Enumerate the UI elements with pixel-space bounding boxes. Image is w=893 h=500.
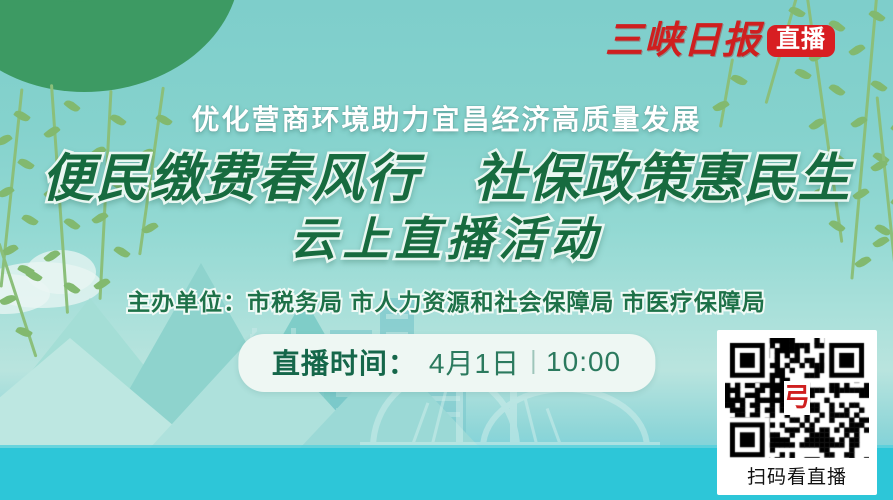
broadcast-time-value: 10:00 [546, 346, 621, 378]
poster-title-line1: 便民缴费春风行 社保政策惠民生 [0, 152, 893, 207]
qr-code-image[interactable]: 弓 [725, 338, 869, 458]
qr-code-panel[interactable]: 弓 扫码看直播 [717, 330, 877, 495]
qr-center-glyph: 弓 [784, 385, 810, 411]
poster-title-line2: 云上直播活动 [0, 215, 893, 263]
headline-block: 优化营商环境助力宜昌经济高质量发展 便民缴费春风行 社保政策惠民生 云上直播活动… [0, 0, 893, 317]
poster-subtitle: 优化营商环境助力宜昌经济高质量发展 [0, 98, 893, 138]
broadcast-time-pill: 直播时间： 4月1日 10:00 [238, 334, 655, 392]
qr-caption: 扫码看直播 [725, 458, 869, 491]
qr-center-logo-icon: 弓 [784, 381, 810, 415]
organizers-line: 主办单位：市税务局 市人力资源和社会保障局 市医疗保障局 [0, 283, 893, 317]
broadcast-time-label: 直播时间： [272, 342, 417, 382]
pill-separator [532, 350, 534, 374]
livestream-poster: 三峡日报 直播 优化营商环境助力宜昌经济高质量发展 便民缴费春风行 社保政策惠民… [0, 0, 893, 500]
broadcast-date-value: 4月1日 [429, 342, 520, 382]
